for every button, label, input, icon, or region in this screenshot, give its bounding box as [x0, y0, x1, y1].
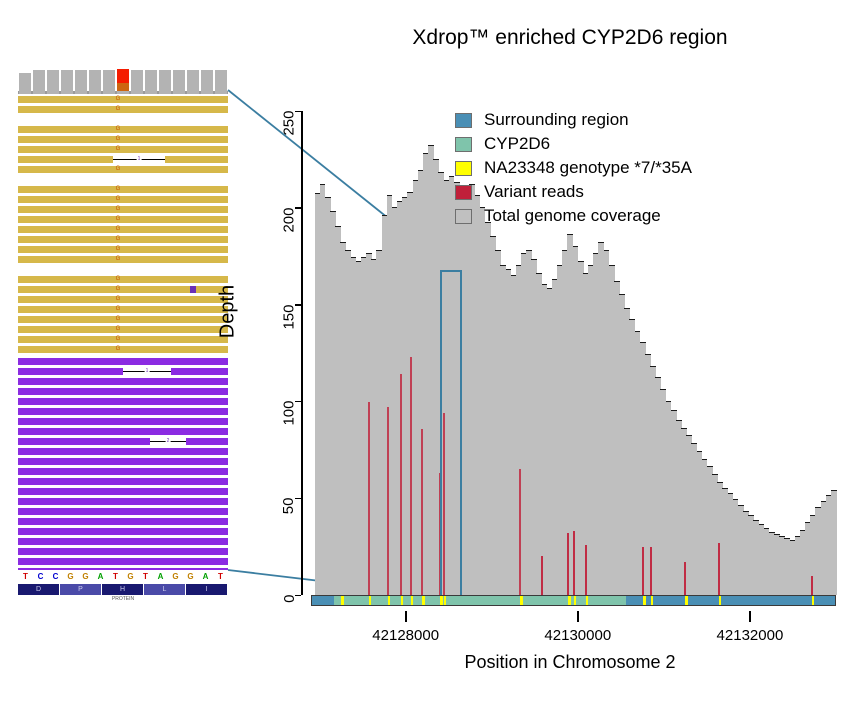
genotype-variant-tick	[685, 596, 688, 605]
igv-coverage-bar	[75, 70, 87, 94]
igv-read[interactable]	[18, 256, 228, 263]
variant-read-bar	[541, 556, 543, 595]
genotype-variant-tick	[341, 596, 344, 605]
annotation-segment[interactable]	[626, 596, 832, 605]
genotype-variant-tick	[422, 596, 425, 605]
reference-base: G	[78, 570, 93, 584]
igv-coverage-bar	[173, 70, 185, 94]
igv-read[interactable]	[18, 186, 228, 193]
igv-coverage-bar	[159, 70, 171, 94]
igv-read[interactable]	[18, 498, 228, 505]
igv-snp-base: G	[114, 206, 122, 213]
variant-read-bar	[811, 576, 813, 595]
igv-read[interactable]	[18, 548, 228, 555]
igv-read[interactable]	[18, 286, 228, 293]
amino-acid-cell: P	[60, 584, 102, 595]
genotype-variant-tick	[369, 596, 372, 605]
genotype-variant-tick	[388, 596, 391, 605]
reference-base: A	[93, 570, 108, 584]
igv-read[interactable]	[18, 508, 228, 515]
igv-snp-base: G	[114, 126, 122, 133]
reference-base: T	[213, 570, 228, 584]
igv-read[interactable]	[18, 306, 228, 313]
x-tick-label: 42132000	[690, 627, 810, 644]
igv-coverage-bar	[19, 73, 31, 94]
legend: Surrounding regionCYP2D6NA23348 genotype…	[455, 108, 692, 228]
igv-coverage-bar	[47, 70, 59, 94]
igv-coverage-bar	[215, 70, 227, 94]
igv-read[interactable]	[18, 558, 228, 565]
reference-base: A	[153, 570, 168, 584]
igv-read[interactable]	[18, 488, 228, 495]
igv-snp-base: G	[114, 136, 122, 143]
igv-read[interactable]	[18, 336, 228, 343]
igv-read[interactable]	[18, 388, 228, 395]
igv-coverage-bar	[131, 70, 143, 94]
igv-read[interactable]	[18, 378, 228, 385]
amino-acid-cell: H	[102, 584, 144, 595]
amino-acid-cell: L	[144, 584, 186, 595]
y-axis-label: Depth	[217, 285, 240, 338]
legend-item: CYP2D6	[455, 132, 692, 156]
igv-reference-sequence: TCCGGATGTAGGAT	[18, 570, 228, 584]
legend-label: Surrounding region	[484, 110, 629, 130]
igv-variant-allele-bar	[117, 69, 129, 83]
genotype-variant-tick	[574, 596, 577, 605]
genotype-variant-tick	[444, 596, 447, 605]
igv-read[interactable]	[18, 528, 228, 535]
igv-snp-base: G	[114, 196, 122, 203]
igv-read[interactable]	[18, 398, 228, 405]
legend-swatch	[455, 137, 472, 152]
igv-read[interactable]	[18, 326, 228, 333]
igv-snp-base: G	[114, 256, 122, 263]
y-tick-label: 0	[281, 595, 298, 603]
igv-read[interactable]	[18, 428, 228, 435]
x-axis-label: Position in Chromosome 2	[300, 652, 840, 673]
legend-label: Total genome coverage	[484, 206, 661, 226]
highlight-region-box[interactable]	[440, 270, 462, 597]
genotype-variant-tick	[401, 596, 404, 605]
igv-read[interactable]	[18, 468, 228, 475]
igv-read[interactable]	[18, 458, 228, 465]
igv-read[interactable]	[18, 346, 228, 353]
y-tick-label: 200	[281, 207, 298, 232]
igv-snp-base: G	[114, 146, 122, 153]
variant-read-bar	[421, 429, 423, 595]
x-axis-tick	[577, 611, 579, 622]
legend-label: CYP2D6	[484, 134, 550, 154]
igv-reads-track[interactable]: GGGGG1GGGGGGGGGGGGGGGGG12	[18, 96, 228, 630]
igv-coverage-bar	[33, 70, 45, 94]
y-tick-label: 150	[281, 304, 298, 329]
igv-snp-base: G	[114, 296, 122, 303]
igv-snp-base: G	[114, 166, 122, 173]
igv-insertion-marker: 2	[150, 438, 186, 445]
igv-read[interactable]	[18, 216, 228, 223]
y-tick-label: 100	[281, 401, 298, 426]
igv-read[interactable]	[18, 316, 228, 323]
reference-base: C	[48, 570, 63, 584]
igv-insertion-marker: 1	[113, 156, 165, 163]
igv-snp-base: G	[114, 246, 122, 253]
igv-snp-base: G	[114, 336, 122, 343]
variant-read-bar	[368, 402, 370, 596]
variant-read-bar	[718, 543, 720, 595]
igv-read[interactable]	[18, 448, 228, 455]
variant-read-bar	[573, 531, 575, 595]
igv-snp-base: G	[114, 236, 122, 243]
genotype-variant-tick	[719, 596, 722, 605]
reference-base: C	[33, 570, 48, 584]
variant-read-bar	[519, 469, 521, 595]
x-tick-label: 42128000	[346, 627, 466, 644]
annotation-segment[interactable]	[316, 596, 334, 605]
reference-base: A	[198, 570, 213, 584]
igv-coverage-bar	[103, 70, 115, 94]
igv-read[interactable]	[18, 518, 228, 525]
igv-read[interactable]	[18, 206, 228, 213]
igv-coverage-bar	[89, 70, 101, 94]
igv-coverage-bar	[187, 70, 199, 94]
igv-alignment-panel[interactable]: GGGGG1GGGGGGGGGGGGGGGGG12 TCCGGATGTAGGAT…	[18, 62, 228, 610]
igv-coverage-bar	[201, 70, 213, 94]
reference-base: G	[183, 570, 198, 584]
igv-read[interactable]	[18, 96, 228, 103]
igv-read[interactable]	[18, 438, 228, 445]
igv-track-label: PROTEIN	[18, 596, 228, 602]
igv-snp-base: G	[114, 226, 122, 233]
legend-label: NA23348 genotype *7/*35A	[484, 158, 692, 178]
igv-snp-base: G	[114, 186, 122, 193]
igv-snp-base: G	[114, 106, 122, 113]
genotype-variant-tick	[411, 596, 414, 605]
annotation-segment[interactable]	[334, 596, 626, 605]
igv-read[interactable]	[18, 408, 228, 415]
coverage-column	[831, 490, 837, 595]
legend-swatch	[455, 209, 472, 224]
reference-base: G	[63, 570, 78, 584]
variant-read-bar	[650, 547, 652, 595]
genotype-variant-tick	[812, 596, 815, 605]
genotype-variant-tick	[651, 596, 654, 605]
igv-read[interactable]	[18, 246, 228, 253]
amino-acid-cell: I	[186, 584, 228, 595]
igv-read[interactable]	[18, 106, 228, 113]
igv-snp-base: G	[114, 96, 122, 103]
genotype-variant-tick	[586, 596, 589, 605]
igv-coverage-track	[18, 64, 228, 94]
y-tick-label: 50	[281, 498, 298, 515]
variant-read-bar	[684, 562, 686, 595]
legend-swatch	[455, 185, 472, 200]
igv-read[interactable]	[18, 358, 228, 365]
igv-snp-base: G	[114, 316, 122, 323]
igv-read[interactable]	[18, 146, 228, 153]
variant-read-bar	[400, 374, 402, 595]
igv-reference-allele-bar	[117, 83, 129, 91]
reference-base: T	[138, 570, 153, 584]
genotype-variant-tick	[520, 596, 523, 605]
reference-base: G	[123, 570, 138, 584]
x-tick-label: 42130000	[518, 627, 638, 644]
amino-acid-cell: D	[18, 584, 60, 595]
igv-read[interactable]	[18, 296, 228, 303]
legend-swatch	[455, 113, 472, 128]
igv-insertion-tick	[190, 286, 196, 293]
igv-coverage-bar	[61, 70, 73, 94]
igv-snp-base: G	[114, 346, 122, 353]
page-title: Xdrop™ enriched CYP2D6 region	[300, 26, 840, 50]
igv-read[interactable]	[18, 276, 228, 283]
variant-read-bar	[642, 547, 644, 595]
genotype-variant-tick	[643, 596, 646, 605]
igv-snp-base: G	[114, 216, 122, 223]
x-axis-tick	[749, 611, 751, 622]
reference-base: T	[108, 570, 123, 584]
reference-base: T	[18, 570, 33, 584]
annotation-track[interactable]	[311, 595, 836, 606]
variant-read-bar	[567, 533, 569, 595]
legend-item: Variant reads	[455, 180, 692, 204]
x-axis-tick	[405, 611, 407, 622]
genotype-variant-tick	[440, 596, 443, 605]
legend-label: Variant reads	[484, 182, 584, 202]
igv-read[interactable]	[18, 166, 228, 173]
igv-read[interactable]	[18, 136, 228, 143]
igv-insertion-marker: 1	[123, 368, 171, 375]
igv-read[interactable]	[18, 226, 228, 233]
y-tick-label: 250	[281, 111, 298, 136]
igv-coverage-bar	[145, 70, 157, 94]
igv-read[interactable]	[18, 126, 228, 133]
igv-read[interactable]	[18, 418, 228, 425]
igv-amino-acid-track: DPHLI	[18, 584, 228, 595]
igv-read[interactable]	[18, 478, 228, 485]
y-axis-line	[301, 111, 303, 595]
igv-read[interactable]	[18, 196, 228, 203]
igv-read[interactable]	[18, 538, 228, 545]
variant-read-bar	[585, 545, 587, 595]
igv-snp-base: G	[114, 306, 122, 313]
genotype-variant-tick	[568, 596, 571, 605]
reference-base: G	[168, 570, 183, 584]
igv-snp-base: G	[114, 326, 122, 333]
igv-snp-base: G	[114, 286, 122, 293]
legend-item: Surrounding region	[455, 108, 692, 132]
variant-read-bar	[410, 357, 412, 595]
legend-item: Total genome coverage	[455, 204, 692, 228]
variant-read-bar	[387, 407, 389, 595]
legend-item: NA23348 genotype *7/*35A	[455, 156, 692, 180]
igv-read[interactable]	[18, 236, 228, 243]
legend-swatch	[455, 161, 472, 176]
igv-snp-base: G	[114, 276, 122, 283]
